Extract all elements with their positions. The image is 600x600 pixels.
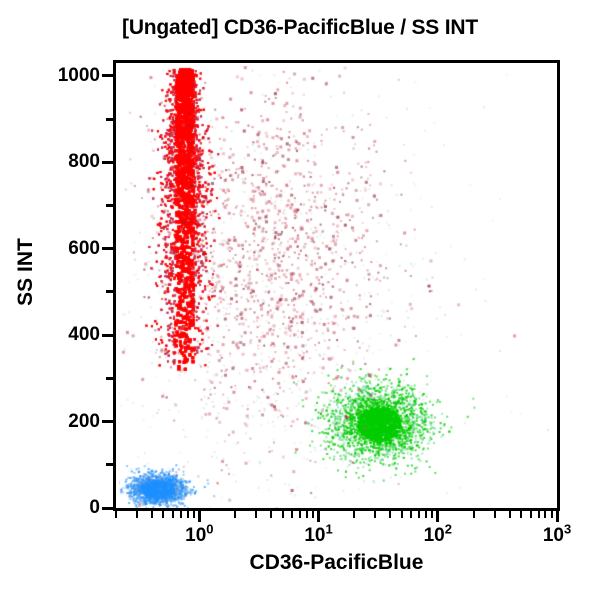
y-tick-minor bbox=[106, 463, 113, 466]
y-tick-label: 1000 bbox=[58, 65, 100, 87]
y-tick-label: 0 bbox=[89, 497, 100, 519]
x-tick-minor bbox=[401, 511, 403, 518]
x-tick-minor bbox=[193, 511, 195, 518]
x-tick-minor bbox=[151, 511, 153, 518]
y-tick-major bbox=[102, 420, 113, 423]
x-tick-minor bbox=[270, 511, 272, 518]
y-tick-major bbox=[102, 334, 113, 337]
x-tick-major bbox=[556, 511, 559, 522]
x-tick-minor bbox=[520, 511, 522, 518]
plot-area[interactable] bbox=[113, 60, 560, 511]
y-tick-minor bbox=[106, 118, 113, 121]
x-tick-minor bbox=[431, 511, 433, 518]
x-tick-label: 101 bbox=[304, 525, 332, 547]
x-tick-minor bbox=[172, 511, 174, 518]
y-tick-major bbox=[102, 247, 113, 250]
x-tick-major bbox=[317, 511, 320, 522]
x-tick-minor bbox=[299, 511, 301, 518]
y-tick-label: 600 bbox=[68, 238, 100, 260]
y-tick-minor bbox=[106, 290, 113, 293]
y-tick-label: 200 bbox=[68, 411, 100, 433]
x-tick-minor bbox=[291, 511, 293, 518]
x-tick-minor bbox=[306, 511, 308, 518]
x-tick-minor bbox=[551, 511, 553, 518]
x-tick-minor bbox=[115, 511, 117, 518]
x-tick-minor bbox=[538, 511, 540, 518]
x-tick-minor bbox=[353, 511, 355, 518]
x-tick-minor bbox=[162, 511, 164, 518]
x-tick-minor bbox=[544, 511, 546, 518]
x-tick-minor bbox=[473, 511, 475, 518]
y-tick-major bbox=[102, 74, 113, 77]
x-tick-minor bbox=[530, 511, 532, 518]
x-tick-minor bbox=[389, 511, 391, 518]
x-tick-minor bbox=[374, 511, 376, 518]
y-tick-major bbox=[102, 507, 113, 510]
x-tick-minor bbox=[410, 511, 412, 518]
x-tick-minor bbox=[282, 511, 284, 518]
x-tick-minor bbox=[136, 511, 138, 518]
y-tick-minor bbox=[106, 204, 113, 207]
x-tick-minor bbox=[312, 511, 314, 518]
scatter-points-canvas bbox=[119, 66, 560, 511]
y-tick-label: 800 bbox=[68, 151, 100, 173]
x-tick-minor bbox=[509, 511, 511, 518]
x-tick-minor bbox=[234, 511, 236, 518]
x-tick-label: 102 bbox=[424, 525, 452, 547]
y-tick-minor bbox=[106, 377, 113, 380]
flow-cytometry-scatter-plot: [Ungated] CD36-PacificBlue / SS INT 0200… bbox=[0, 0, 600, 600]
y-tick-label: 400 bbox=[68, 324, 100, 346]
x-axis-title: CD36-PacificBlue bbox=[113, 551, 560, 575]
x-tick-minor bbox=[180, 511, 182, 518]
x-tick-major bbox=[436, 511, 439, 522]
x-tick-major bbox=[198, 511, 201, 522]
x-tick-label: 100 bbox=[185, 525, 213, 547]
y-axis-title: SS INT bbox=[14, 202, 38, 342]
x-tick-minor bbox=[418, 511, 420, 518]
x-tick-label: 103 bbox=[543, 525, 571, 547]
x-tick-minor bbox=[425, 511, 427, 518]
x-tick-minor bbox=[255, 511, 257, 518]
y-tick-major bbox=[102, 161, 113, 164]
page-title: [Ungated] CD36-PacificBlue / SS INT bbox=[0, 16, 600, 40]
x-tick-minor bbox=[494, 511, 496, 518]
x-tick-minor bbox=[187, 511, 189, 518]
